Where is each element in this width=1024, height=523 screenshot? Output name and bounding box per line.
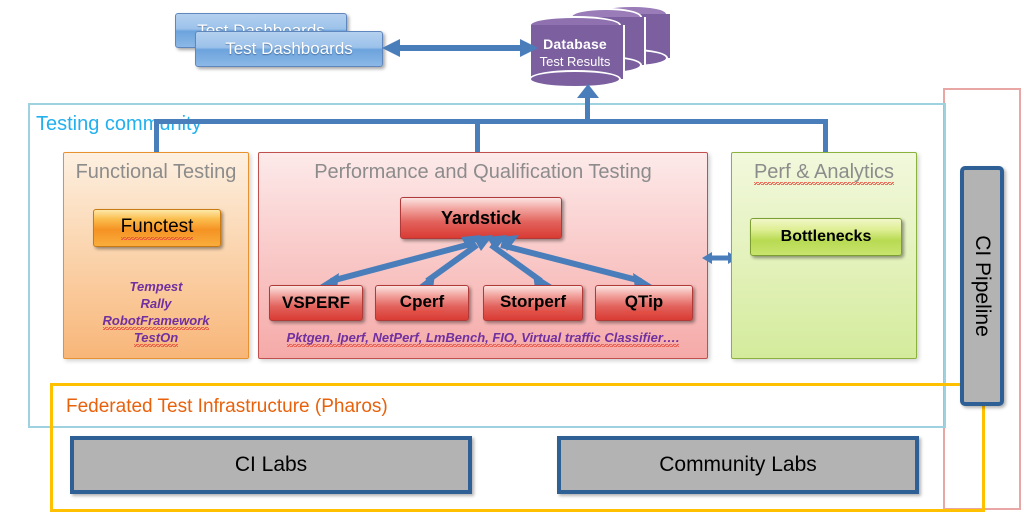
performance-tools-list: Pktgen, Iperf, NetPerf, LmBench, FIO, Vi…: [259, 329, 707, 346]
functional-testing-panel[interactable]: Functional Testing Functest Tempest Rall…: [63, 152, 249, 359]
functest-button[interactable]: Functest: [93, 209, 221, 247]
functional-tool-1: Rally: [64, 295, 248, 312]
pharos-title: Federated Test Infrastructure (Pharos): [66, 396, 388, 418]
cperf-button[interactable]: Cperf: [375, 285, 469, 321]
dashboard-database-arrowheads: [380, 34, 540, 62]
qtip-button-label: QTip: [625, 292, 663, 314]
community-labs-box[interactable]: Community Labs: [557, 436, 919, 494]
perf-analytics-panel[interactable]: Perf & Analytics Bottlenecks: [731, 152, 917, 359]
cperf-button-label: Cperf: [400, 292, 444, 314]
performance-tools-line: Pktgen, Iperf, NetPerf, LmBench, FIO, Vi…: [287, 330, 680, 347]
functional-tool-0: Tempest: [64, 278, 248, 295]
ci-pipeline-label: CI Pipeline: [970, 235, 994, 337]
storperf-button[interactable]: Storperf: [483, 285, 583, 321]
performance-testing-panel[interactable]: Performance and Qualification Testing Ya…: [258, 152, 708, 359]
functional-tool-2: RobotFramework: [103, 313, 210, 330]
community-labs-label: Community Labs: [659, 453, 817, 477]
database-subtitle: Test Results: [540, 54, 611, 69]
connector-bus-horizontal: [154, 119, 828, 124]
vsperf-button-label: VSPERF: [282, 293, 350, 313]
testing-community-title: Testing community: [36, 113, 202, 136]
ci-labs-label: CI Labs: [235, 453, 307, 477]
test-dashboard-front-box[interactable]: Test Dashboards: [195, 31, 383, 67]
functional-tools-list: Tempest Rally RobotFramework TestOn: [64, 278, 248, 346]
storperf-button-label: Storperf: [500, 292, 566, 314]
qtip-button[interactable]: QTip: [595, 285, 693, 321]
diagram-canvas: Testing community Test Dashboards Test D…: [0, 0, 1024, 523]
database-title: Database: [543, 36, 607, 52]
functest-button-label: Functest: [121, 216, 194, 240]
bottlenecks-button-label: Bottlenecks: [781, 228, 872, 246]
ci-labs-box[interactable]: CI Labs: [70, 436, 472, 494]
test-dashboard-front-label: Test Dashboards: [225, 39, 353, 59]
vsperf-button[interactable]: VSPERF: [269, 285, 363, 321]
functional-testing-title: Functional Testing: [64, 161, 248, 184]
ci-pipeline-bar[interactable]: CI Pipeline: [960, 166, 1004, 406]
bottlenecks-button[interactable]: Bottlenecks: [750, 218, 902, 256]
functional-tool-3: TestOn: [134, 330, 178, 347]
perf-analytics-title: Perf & Analytics: [732, 161, 916, 184]
perf-analytics-title-text: Perf & Analytics: [754, 161, 894, 185]
database-cylinder-front[interactable]: Database Test Results: [529, 16, 621, 88]
